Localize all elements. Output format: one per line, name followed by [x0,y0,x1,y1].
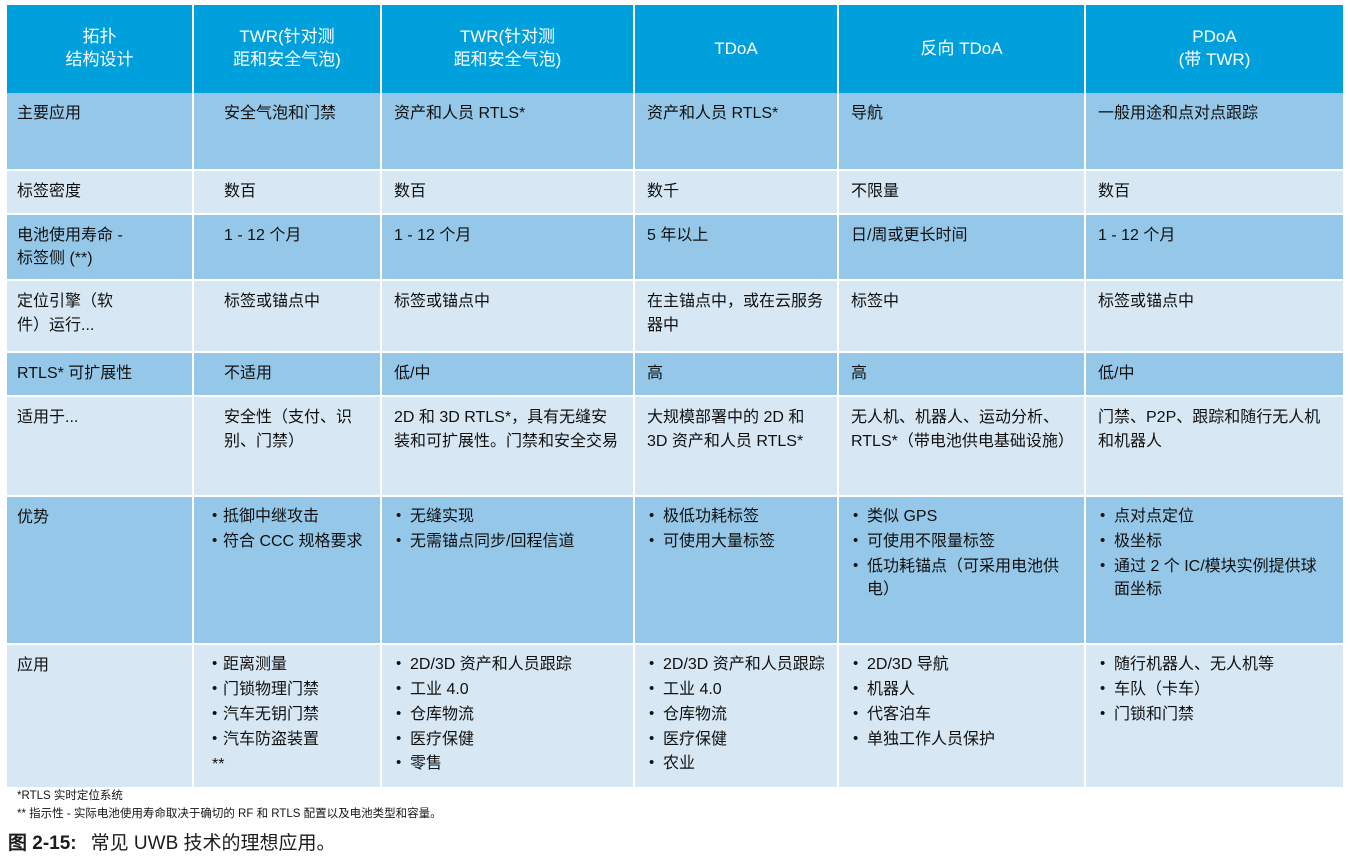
table-row: 电池使用寿命 - 标签侧 (**) 1 - 12 个月 1 - 12 个月 5 … [7,215,1343,281]
list-item: 零售 [394,753,621,776]
list-item: 无需锚点同步/回程信道 [394,531,621,554]
list-item: 通过 2 个 IC/模块实例提供球面坐标 [1098,556,1331,601]
applications-footnote-marker: ** [212,753,368,776]
list-item: 工业 4.0 [394,679,621,702]
table-row: 定位引擎（软 件）运行... 标签或锚点中 标签或锚点中 在主锚点中，或在云服务… [7,281,1343,353]
cell-battery-life-tdoa: 5 年以上 [635,215,839,281]
label-line: 标签侧 (**) [17,250,93,267]
column-header-topology: 拓扑 结构设计 [7,5,194,93]
list-item: 汽车无钥门禁 [212,704,368,727]
header-line: 拓扑 [83,27,117,46]
table-header-row: 拓扑 结构设计 TWR(针对测 距和安全气泡) TWR(针对测 距和安全气泡) … [7,5,1343,93]
list-item: 门锁物理门禁 [212,679,368,702]
figure-sheet: 拓扑 结构设计 TWR(针对测 距和安全气泡) TWR(针对测 距和安全气泡) … [0,0,1350,862]
table-body: 主要应用 安全气泡和门禁 资产和人员 RTLS* 资产和人员 RTLS* 导航 … [7,93,1343,789]
list-item: 极坐标 [1098,531,1331,554]
list-item: 点对点定位 [1098,506,1331,529]
list-item: 可使用不限量标签 [851,531,1072,554]
list-item: 工业 4.0 [647,679,825,702]
cell-tag-density-reverse-tdoa: 不限量 [839,171,1086,215]
application-list: 2D/3D 导航 机器人 代客泊车 单独工作人员保护 [851,654,1072,751]
header-line: TWR(针对测 [460,27,555,46]
label-line: 定位引擎（软 [17,293,113,310]
cell-battery-life-pdoa: 1 - 12 个月 [1086,215,1343,281]
list-item: 2D/3D 资产和人员跟踪 [647,654,825,677]
advantage-list: 抵御中继攻击 符合 CCC 规格要求 [212,506,368,553]
column-header-pdoa: PDoA (带 TWR) [1086,5,1343,93]
list-item: 车队（卡车） [1098,679,1331,702]
cell-location-engine-tdoa: 在主锚点中，或在云服务器中 [635,281,839,353]
list-item: 符合 CCC 规格要求 [212,531,368,554]
cell-primary-application-twr1: 安全气泡和门禁 [194,93,382,171]
application-list: 随行机器人、无人机等 车队（卡车） 门锁和门禁 [1098,654,1331,726]
cell-rtls-scalability-reverse-tdoa: 高 [839,353,1086,397]
cell-battery-life-twr2: 1 - 12 个月 [382,215,635,281]
cell-applications-twr2: 2D/3D 资产和人员跟踪 工业 4.0 仓库物流 医疗保健 零售 [382,645,635,789]
column-header-tdoa: TDoA [635,5,839,93]
header-line: 距和安全气泡) [454,50,562,69]
list-item: 汽车防盗装置 [212,729,368,752]
cell-tag-density-pdoa: 数百 [1086,171,1343,215]
cell-rtls-scalability-twr2: 低/中 [382,353,635,397]
header-line: 距和安全气泡) [233,50,341,69]
list-item: 医疗保健 [394,729,621,752]
table-header: 拓扑 结构设计 TWR(针对测 距和安全气泡) TWR(针对测 距和安全气泡) … [7,5,1343,93]
application-list: 2D/3D 资产和人员跟踪 工业 4.0 仓库物流 医疗保健 零售 [394,654,621,776]
cell-battery-life-reverse-tdoa: 日/周或更长时间 [839,215,1086,281]
cell-primary-application-pdoa: 一般用途和点对点跟踪 [1086,93,1343,171]
cell-applications-reverse-tdoa: 2D/3D 导航 机器人 代客泊车 单独工作人员保护 [839,645,1086,789]
header-line: 结构设计 [66,50,134,69]
label-line: 电池使用寿命 - [17,227,123,244]
list-item: 抵御中继攻击 [212,506,368,529]
header-line: (带 TWR) [1179,50,1251,69]
column-header-reverse-tdoa: 反向 TDoA [839,5,1086,93]
list-item: 距离测量 [212,654,368,677]
header-line: TWR(针对测 [239,27,334,46]
cell-applications-tdoa: 2D/3D 资产和人员跟踪 工业 4.0 仓库物流 医疗保健 农业 [635,645,839,789]
cell-location-engine-pdoa: 标签或锚点中 [1086,281,1343,353]
row-label-suitable-for: 适用于... [7,397,194,497]
cell-primary-application-reverse-tdoa: 导航 [839,93,1086,171]
cell-rtls-scalability-twr1: 不适用 [194,353,382,397]
figure-number: 图 2-15: [8,833,77,854]
label-line: 件）运行... [17,317,94,334]
cell-suitable-for-pdoa: 门禁、P2P、跟踪和随行无人机和机器人 [1086,397,1343,497]
column-header-twr-2: TWR(针对测 距和安全气泡) [382,5,635,93]
advantage-list: 类似 GPS 可使用不限量标签 低功耗锚点（可采用电池供电） [851,506,1072,601]
figure-title: 常见 UWB 技术的理想应用。 [91,833,336,854]
header-line: TDoA [714,39,757,58]
cell-rtls-scalability-pdoa: 低/中 [1086,353,1343,397]
cell-advantages-reverse-tdoa: 类似 GPS 可使用不限量标签 低功耗锚点（可采用电池供电） [839,497,1086,645]
advantage-list: 点对点定位 极坐标 通过 2 个 IC/模块实例提供球面坐标 [1098,506,1331,601]
advantage-list: 极低功耗标签 可使用大量标签 [647,506,825,553]
list-item: 农业 [647,753,825,776]
list-item: 可使用大量标签 [647,531,825,554]
list-item: 仓库物流 [394,704,621,727]
cell-location-engine-twr2: 标签或锚点中 [382,281,635,353]
table-row: 优势 抵御中继攻击 符合 CCC 规格要求 无缝实现 无需锚点同步/回程信道 极 [7,497,1343,645]
table-row: 主要应用 安全气泡和门禁 资产和人员 RTLS* 资产和人员 RTLS* 导航 … [7,93,1343,171]
list-item: 医疗保健 [647,729,825,752]
cell-battery-life-twr1: 1 - 12 个月 [194,215,382,281]
cell-applications-twr1: 距离测量 门锁物理门禁 汽车无钥门禁 汽车防盗装置 ** [194,645,382,789]
cell-advantages-tdoa: 极低功耗标签 可使用大量标签 [635,497,839,645]
list-item: 随行机器人、无人机等 [1098,654,1331,677]
header-line: 反向 TDoA [920,39,1002,58]
cell-advantages-pdoa: 点对点定位 极坐标 通过 2 个 IC/模块实例提供球面坐标 [1086,497,1343,645]
application-list: 2D/3D 资产和人员跟踪 工业 4.0 仓库物流 医疗保健 农业 [647,654,825,776]
application-list: 距离测量 门锁物理门禁 汽车无钥门禁 汽车防盗装置 [212,654,368,751]
cell-suitable-for-reverse-tdoa: 无人机、机器人、运动分析、RTLS*（带电池供电基础设施） [839,397,1086,497]
list-item: 仓库物流 [647,704,825,727]
footnotes: *RTLS 实时定位系统 ** 指示性 - 实际电池使用寿命取决于确切的 RF … [17,788,1117,824]
cell-advantages-twr1: 抵御中继攻击 符合 CCC 规格要求 [194,497,382,645]
cell-rtls-scalability-tdoa: 高 [635,353,839,397]
list-item: 极低功耗标签 [647,506,825,529]
cell-suitable-for-twr1: 安全性（支付、识别、门禁） [194,397,382,497]
list-item: 2D/3D 导航 [851,654,1072,677]
cell-suitable-for-tdoa: 大规模部署中的 2D 和 3D 资产和人员 RTLS* [635,397,839,497]
cell-advantages-twr2: 无缝实现 无需锚点同步/回程信道 [382,497,635,645]
cell-tag-density-twr1: 数百 [194,171,382,215]
cell-primary-application-twr2: 资产和人员 RTLS* [382,93,635,171]
footnote-rtls: *RTLS 实时定位系统 [17,788,1117,806]
row-label-tag-density: 标签密度 [7,171,194,215]
list-item: 无缝实现 [394,506,621,529]
uwb-comparison-table: 拓扑 结构设计 TWR(针对测 距和安全气泡) TWR(针对测 距和安全气泡) … [7,5,1343,789]
cell-applications-pdoa: 随行机器人、无人机等 车队（卡车） 门锁和门禁 [1086,645,1343,789]
row-label-advantages: 优势 [7,497,194,645]
row-label-location-engine: 定位引擎（软 件）运行... [7,281,194,353]
list-item: 低功耗锚点（可采用电池供电） [851,556,1072,601]
table-row: 应用 距离测量 门锁物理门禁 汽车无钥门禁 汽车防盗装置 ** 2D/3D 资产… [7,645,1343,789]
cell-tag-density-tdoa: 数千 [635,171,839,215]
advantage-list: 无缝实现 无需锚点同步/回程信道 [394,506,621,553]
row-label-rtls-scalability: RTLS* 可扩展性 [7,353,194,397]
footnote-battery: ** 指示性 - 实际电池使用寿命取决于确切的 RF 和 RTLS 配置以及电池… [17,806,1117,824]
list-item: 机器人 [851,679,1072,702]
cell-location-engine-reverse-tdoa: 标签中 [839,281,1086,353]
list-item: 2D/3D 资产和人员跟踪 [394,654,621,677]
row-label-battery-life: 电池使用寿命 - 标签侧 (**) [7,215,194,281]
cell-tag-density-twr2: 数百 [382,171,635,215]
list-item: 类似 GPS [851,506,1072,529]
header-line: PDoA [1192,27,1236,46]
cell-suitable-for-twr2: 2D 和 3D RTLS*，具有无缝安装和可扩展性。门禁和安全交易 [382,397,635,497]
figure-caption: 图 2-15:常见 UWB 技术的理想应用。 [8,828,336,855]
list-item: 单独工作人员保护 [851,729,1072,752]
column-header-twr-1: TWR(针对测 距和安全气泡) [194,5,382,93]
cell-primary-application-tdoa: 资产和人员 RTLS* [635,93,839,171]
row-label-applications: 应用 [7,645,194,789]
list-item: 门锁和门禁 [1098,704,1331,727]
list-item: 代客泊车 [851,704,1072,727]
table-row: 标签密度 数百 数百 数千 不限量 数百 [7,171,1343,215]
table-row: 适用于... 安全性（支付、识别、门禁） 2D 和 3D RTLS*，具有无缝安… [7,397,1343,497]
table-row: RTLS* 可扩展性 不适用 低/中 高 高 低/中 [7,353,1343,397]
row-label-primary-application: 主要应用 [7,93,194,171]
cell-location-engine-twr1: 标签或锚点中 [194,281,382,353]
